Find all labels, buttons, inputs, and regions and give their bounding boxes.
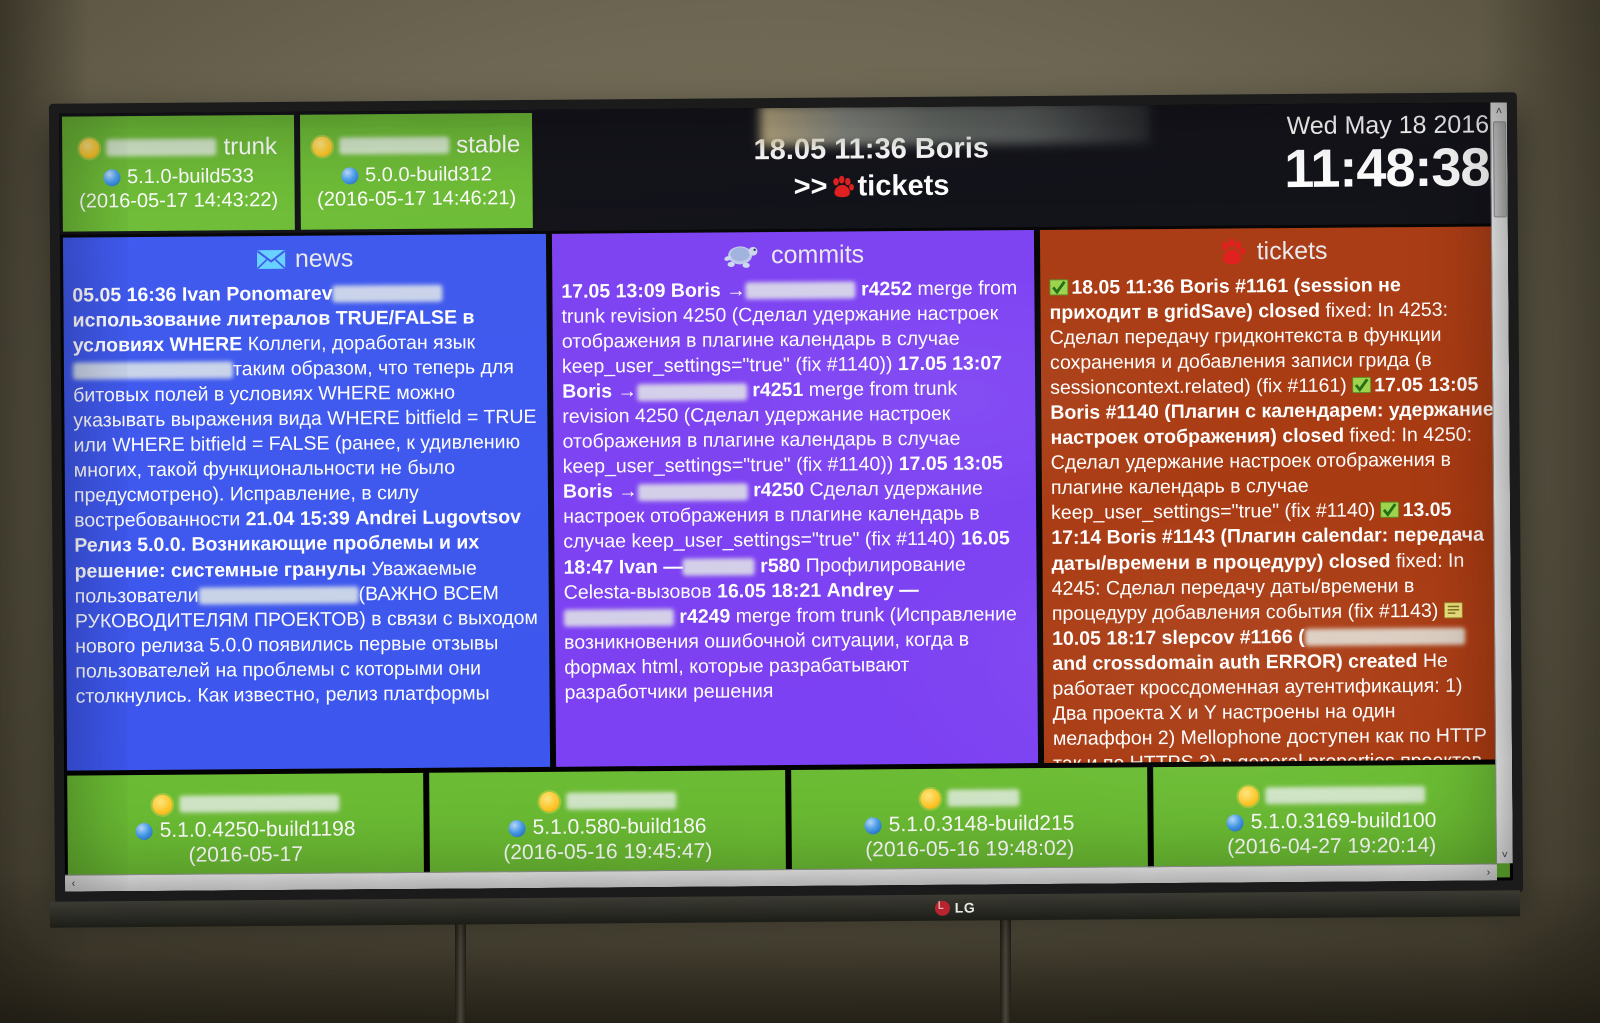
- commit-rev: r4252: [861, 278, 912, 300]
- commit-arrow: →: [617, 380, 637, 402]
- commit-rev: r4251: [752, 379, 803, 401]
- ticket-status: closed: [1329, 550, 1391, 572]
- build-tile-timestamp: (2016-05-16 19:48:02): [865, 836, 1074, 862]
- ticker-line-2: >> tickets: [794, 169, 950, 203]
- turtle-icon: [722, 241, 762, 269]
- panel-commits-body: 17.05 13:09 Boris → r4252 merge from tru…: [561, 276, 1028, 705]
- build-tile-timestamp: (2016-05-17 14:46:21): [317, 187, 516, 212]
- tv-mount-bracket-right: [1000, 916, 1011, 1023]
- build-tile-version: 5.1.0-build533: [127, 165, 254, 190]
- closed-green-check-icon: [1381, 502, 1400, 519]
- build-tile-stable[interactable]: stable 5.0.0-build312 (2016-05-17 14:46:…: [300, 113, 533, 230]
- commit-arrow: →: [726, 279, 746, 301]
- commit-rev: r4249: [679, 605, 730, 627]
- created-note-icon: [1444, 601, 1463, 618]
- current-date: Wed May 18 2016: [1284, 110, 1489, 141]
- blue-ball-icon: [1227, 814, 1244, 831]
- scroll-right-arrow-icon[interactable]: ›: [1480, 864, 1497, 881]
- ticker-label: tickets: [857, 169, 949, 203]
- date-time-block: Wed May 18 2016 11:48:38: [1284, 110, 1490, 197]
- build-tile-timestamp: (2016-05-17: [188, 842, 303, 868]
- commit-arrow: —: [899, 579, 919, 601]
- closed-green-check-icon: [1049, 279, 1068, 296]
- build-tile-title-row: [152, 793, 339, 814]
- panel-tickets-title: tickets: [1257, 236, 1328, 266]
- build-tile-timestamp: (2016-05-16 19:45:47): [503, 839, 712, 865]
- build-tile-trunk[interactable]: trunk 5.1.0-build533 (2016-05-17 14:43:2…: [62, 115, 295, 232]
- closed-green-check-icon: [1352, 377, 1371, 394]
- panel-news[interactable]: news 05.05 16:36 Ivan Ponomarev использо…: [63, 234, 550, 771]
- build-tile-name: trunk: [223, 133, 277, 162]
- blue-ball-icon: [136, 823, 153, 840]
- scroll-up-arrow-icon[interactable]: ˄: [1490, 102, 1507, 119]
- lg-brand-logo: LG: [935, 900, 976, 916]
- build-tile-version: 5.1.0.580-build186: [532, 814, 706, 840]
- build-tile-version-row: 5.1.0-build533: [103, 165, 254, 190]
- envelope-icon: [256, 248, 286, 269]
- paw-icon: [1218, 236, 1248, 266]
- news-entry-meta: 21.04 15:39 Andrei Lugovtsov: [246, 507, 521, 531]
- build-tile-title-row: [920, 788, 1019, 809]
- build-tile-version-row: 5.0.0-build312: [341, 163, 492, 188]
- lg-mark-icon: [935, 900, 950, 915]
- build-tile-version-row: 5.1.0.4250-build1198: [132, 817, 360, 844]
- scroll-down-arrow-icon[interactable]: ˅: [1496, 846, 1513, 863]
- redacted-path: [564, 609, 674, 627]
- ticket-meta-pre: 10.05 18:17 slepcov #1166 (: [1052, 626, 1305, 650]
- panel-commits-title: commits: [771, 240, 864, 270]
- build-tile-title-row: stable: [312, 131, 520, 161]
- panel-news-body: 05.05 16:36 Ivan Ponomarev использование…: [72, 280, 540, 709]
- redacted-project-name: [339, 137, 449, 155]
- television-display: trunk 5.1.0-build533 (2016-05-17 14:43:2…: [49, 92, 1523, 904]
- build-tile-title-row: [1238, 785, 1425, 806]
- build-tile-name: stable: [456, 131, 520, 160]
- build-tile-version: 5.1.0.3169-build100: [1251, 809, 1437, 835]
- build-tile-timestamp: (2016-05-17 14:43:22): [79, 189, 278, 214]
- redacted-project-name: [947, 789, 1019, 807]
- redacted-text: [199, 586, 359, 604]
- redacted-email: [332, 285, 442, 303]
- tv-mount-bracket-left: [455, 916, 466, 1023]
- sun-icon: [312, 136, 332, 156]
- top-status-bar: trunk 5.1.0-build533 (2016-05-17 14:43:2…: [59, 102, 1508, 234]
- commit-arrow: —: [663, 555, 683, 577]
- build-tile-version: 5.0.0-build312: [365, 163, 492, 188]
- blue-ball-icon: [341, 168, 358, 185]
- sun-icon: [152, 795, 172, 815]
- ticker-line-1: 18.05 11:36 Boris: [753, 132, 989, 167]
- redacted-project-name: [1265, 786, 1425, 804]
- redacted-text: [73, 362, 233, 380]
- panel-tickets-header: tickets: [1049, 232, 1496, 270]
- build-tile-title-row: trunk: [79, 133, 277, 163]
- scroll-left-arrow-icon[interactable]: ‹: [65, 875, 82, 892]
- ticket-status: closed: [1258, 300, 1320, 322]
- sun-icon: [920, 789, 940, 809]
- build-tile-version-row: 5.1.0.3148-build215: [861, 811, 1079, 837]
- commit-meta: 17.05 13:09 Boris: [561, 280, 721, 303]
- sun-icon: [539, 792, 559, 812]
- sun-icon: [79, 138, 99, 158]
- panel-commits[interactable]: commits 17.05 13:09 Boris → r4252 merge …: [552, 230, 1038, 767]
- tv-bezel: trunk 5.1.0-build533 (2016-05-17 14:43:2…: [59, 102, 1513, 891]
- blue-ball-icon: [509, 820, 526, 837]
- commit-rev: r4250: [753, 479, 804, 501]
- build-tile-version-row: 5.1.0.580-build186: [504, 814, 710, 840]
- panel-news-header: news: [72, 240, 537, 278]
- blue-ball-icon: [865, 817, 882, 834]
- build-tile-title-row: [539, 791, 676, 812]
- build-tile-timestamp: (2016-04-27 19:20:14): [1227, 833, 1436, 859]
- commit-rev: r580: [760, 554, 800, 576]
- news-entry: 05.05 16:36 Ivan Ponomarev использование…: [72, 282, 536, 532]
- news-entry: 21.04 15:39 Andrei Lugovtsov Релиз 5.0.0…: [74, 507, 538, 708]
- sun-icon: [1238, 786, 1258, 806]
- build-tile-version: 5.1.0.3148-build215: [889, 811, 1075, 837]
- current-time: 11:48:38: [1284, 139, 1490, 197]
- panels-row: news 05.05 16:36 Ivan Ponomarev использо…: [60, 223, 1512, 773]
- news-entry-body-a: Коллеги, доработан язык: [248, 332, 476, 356]
- dashboard-screen: trunk 5.1.0-build533 (2016-05-17 14:43:2…: [59, 102, 1513, 891]
- redacted-path: [746, 282, 856, 300]
- panel-tickets[interactable]: tickets 18.05 11:36 Boris #1161 (session…: [1040, 226, 1509, 763]
- redacted-path: [683, 558, 755, 576]
- panel-commits-header: commits: [561, 236, 1025, 274]
- panel-news-title: news: [295, 244, 354, 273]
- blue-ball-icon: [103, 170, 120, 187]
- redacted-project-name: [179, 795, 339, 813]
- ticket-status: closed: [1282, 425, 1344, 447]
- redacted-ticket-title: [1305, 628, 1465, 646]
- build-tile-version: 5.1.0.4250-build1198: [160, 817, 356, 843]
- scroll-thumb[interactable]: [1493, 121, 1507, 217]
- commit-arrow: →: [618, 481, 638, 503]
- commit-meta: 16.05 18:21 Andrey: [717, 579, 894, 602]
- ticker-arrow: >>: [794, 170, 828, 203]
- lg-brand-text: LG: [955, 900, 976, 916]
- clock-bar: 18.05 11:36 Boris >> tickets: [535, 102, 1508, 231]
- build-tile-version-row: 5.1.0.3169-build100: [1223, 809, 1441, 835]
- redacted-path: [637, 383, 747, 401]
- ticket-meta-post: and crossdomain auth ERROR): [1052, 650, 1343, 674]
- paw-icon: [829, 173, 855, 199]
- redacted-path: [638, 483, 748, 501]
- news-entry-meta: 05.05 16:36 Ivan Ponomarev: [72, 283, 332, 307]
- redacted-project-name: [106, 139, 216, 157]
- redacted-project-name: [566, 792, 676, 810]
- panel-tickets-body: 18.05 11:36 Boris #1161 (session не прих…: [1049, 272, 1500, 763]
- ticket-status: created: [1348, 650, 1418, 673]
